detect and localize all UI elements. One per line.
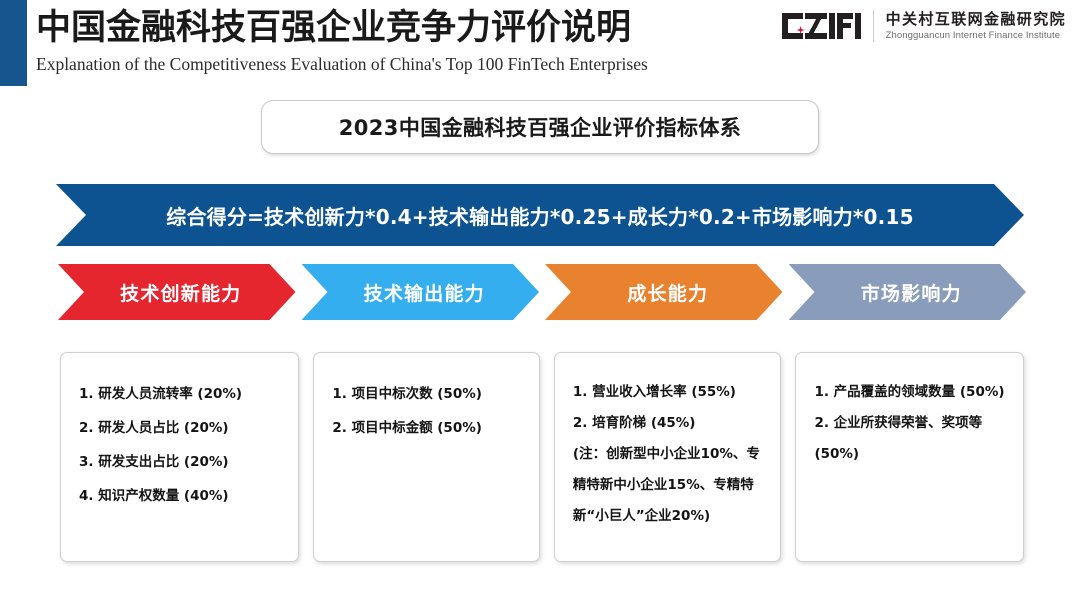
index-system-title: 2023中国金融科技百强企业评价指标体系 — [339, 112, 741, 142]
indicator-line: 1. 研发人员流转率 (20%) — [79, 377, 284, 411]
logo-letter-i2 — [855, 13, 861, 39]
dimension-chevron-label: 成长能力 — [619, 279, 708, 306]
indicator-line: 4. 知识产权数量 (40%) — [79, 479, 284, 513]
page-title-cn: 中国金融科技百强企业竞争力评价说明 — [36, 6, 736, 50]
logo-letter-i — [829, 13, 835, 39]
score-formula-text: 综合得分=技术创新力*0.4+技术输出能力*0.25+成长力*0.2+市场影响力… — [166, 201, 913, 230]
logo-diamond-icon — [797, 26, 805, 34]
logo-letter-f — [837, 13, 853, 39]
indicator-line: 1. 产品覆盖的领域数量 (50%) — [814, 377, 1009, 408]
indicator-card-3: 1. 营业收入增长率 (55%)2. 培育阶梯 (45%)(注：创新型中小企业1… — [554, 352, 782, 562]
indicator-line: 2. 培育阶梯 (45%) — [573, 408, 767, 439]
header: 中国金融科技百强企业竞争力评价说明 Explanation of the Com… — [36, 6, 736, 86]
logo-text: 中关村互联网金融研究院 Zhongguancun Internet Financ… — [886, 10, 1066, 42]
indicator-line: 2. 项目中标金额 (50%) — [332, 411, 525, 445]
czifi-logomark-icon — [782, 11, 861, 41]
indicator-card-2: 1. 项目中标次数 (50%)2. 项目中标金额 (50%) — [313, 352, 540, 562]
score-formula-banner: 综合得分=技术创新力*0.4+技术输出能力*0.25+成长力*0.2+市场影响力… — [56, 184, 1024, 246]
slide: 中国金融科技百强企业竞争力评价说明 Explanation of the Com… — [0, 0, 1080, 608]
dimension-chevron-label: 技术输出能力 — [356, 279, 485, 306]
logo-divider — [873, 10, 874, 42]
indicator-card-row: 1. 研发人员流转率 (20%)2. 研发人员占比 (20%)3. 研发支出占比… — [60, 352, 1024, 562]
indicator-line: (注：创新型中小企业10%、专精特新中小企业15%、专精特新“小巨人”企业20%… — [573, 439, 767, 532]
dimension-chevron-2[interactable]: 技术输出能力 — [302, 264, 540, 320]
page-title-en: Explanation of the Competitiveness Evalu… — [36, 52, 736, 76]
indicator-line: 2. 企业所获得荣誉、奖项等 (50%) — [814, 408, 1009, 470]
logo-letter-z — [805, 13, 827, 39]
logo-letter-c — [782, 13, 803, 39]
dimension-chevron-row: 技术创新能力技术输出能力成长能力市场影响力 — [58, 264, 1026, 320]
index-system-title-box: 2023中国金融科技百强企业评价指标体系 — [261, 100, 819, 154]
dimension-chevron-3[interactable]: 成长能力 — [545, 264, 783, 320]
left-accent-bar — [0, 0, 27, 86]
dimension-chevron-1[interactable]: 技术创新能力 — [58, 264, 296, 320]
logo-name-en: Zhongguancun Internet Finance Institute — [886, 29, 1066, 42]
indicator-card-1: 1. 研发人员流转率 (20%)2. 研发人员占比 (20%)3. 研发支出占比… — [60, 352, 299, 562]
dimension-chevron-label: 市场影响力 — [853, 279, 962, 306]
institute-logo: 中关村互联网金融研究院 Zhongguancun Internet Financ… — [782, 10, 1066, 42]
dimension-chevron-4[interactable]: 市场影响力 — [789, 264, 1027, 320]
indicator-line: 1. 营业收入增长率 (55%) — [573, 377, 767, 408]
indicator-line: 1. 项目中标次数 (50%) — [332, 377, 525, 411]
dimension-chevron-label: 技术创新能力 — [112, 279, 241, 306]
logo-name-cn: 中关村互联网金融研究院 — [886, 10, 1066, 29]
indicator-card-4: 1. 产品覆盖的领域数量 (50%)2. 企业所获得荣誉、奖项等 (50%) — [795, 352, 1024, 562]
indicator-line: 3. 研发支出占比 (20%) — [79, 445, 284, 479]
indicator-line: 2. 研发人员占比 (20%) — [79, 411, 284, 445]
